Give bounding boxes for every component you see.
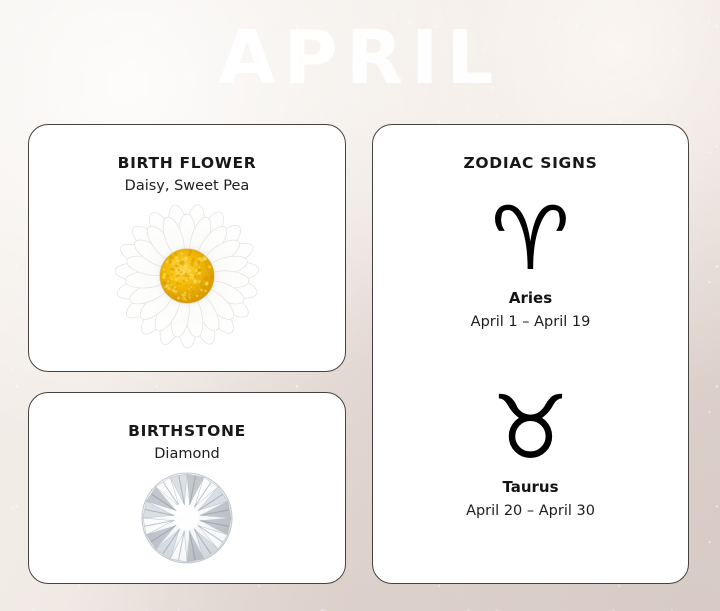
aries-symbol: ♈ xyxy=(373,191,688,287)
zodiac-entry-taurus: ♉ Taurus April 20 – April 30 xyxy=(373,380,688,519)
birth-flower-subtitle: Daisy, Sweet Pea xyxy=(29,178,345,194)
daisy-flower-image xyxy=(29,202,345,352)
page-title: APRIL xyxy=(0,17,720,99)
zodiac-title: ZODIAC SIGNS xyxy=(373,154,688,172)
aries-dates: April 1 – April 19 xyxy=(373,314,688,330)
birthstone-subtitle: Diamond xyxy=(29,446,345,462)
taurus-dates: April 20 – April 30 xyxy=(373,503,688,519)
birthstone-title: BIRTHSTONE xyxy=(29,422,345,440)
diamond-gem-image xyxy=(29,468,345,568)
birth-flower-card: BIRTH FLOWER Daisy, Sweet Pea xyxy=(28,124,346,372)
taurus-name: Taurus xyxy=(373,478,688,496)
birthstone-card: BIRTHSTONE Diamond xyxy=(28,392,346,584)
birth-flower-title: BIRTH FLOWER xyxy=(29,154,345,172)
taurus-symbol: ♉ xyxy=(373,380,688,476)
aries-name: Aries xyxy=(373,289,688,307)
zodiac-entry-aries: ♈ Aries April 1 – April 19 xyxy=(373,191,688,330)
zodiac-signs-card: ZODIAC SIGNS ♈ Aries April 1 – April 19 … xyxy=(372,124,689,584)
